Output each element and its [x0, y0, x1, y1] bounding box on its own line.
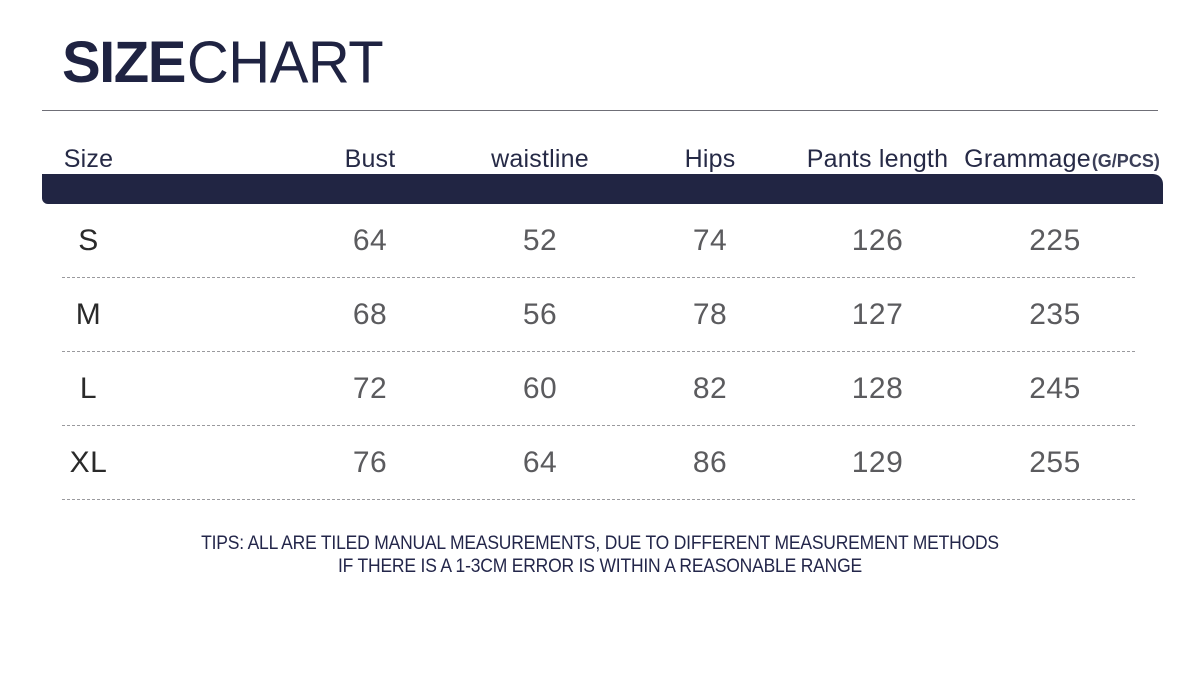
- cell-grammage: 225: [960, 204, 1200, 278]
- cell-bust: 72: [285, 352, 455, 426]
- cell-size: XL: [0, 426, 285, 500]
- size-chart-page: SIZE CHART Size Bust waistline Hips Pant…: [0, 0, 1200, 682]
- cell-hips: 78: [625, 278, 795, 352]
- cell-hips: 82: [625, 352, 795, 426]
- row-divider: [62, 499, 1135, 500]
- column-header-waistline: waistline: [455, 145, 625, 174]
- table-row: S 64 52 74 126 225: [0, 204, 1200, 278]
- header-accent-bar: [42, 174, 1163, 204]
- column-header-grammage: Grammage(G/PCS): [960, 145, 1200, 174]
- title-size-word: SIZE: [62, 34, 185, 92]
- column-header-size: Size: [0, 145, 285, 174]
- table-row: M 68 56 78 127 235: [0, 278, 1200, 352]
- cell-waistline: 56: [455, 278, 625, 352]
- cell-grammage: 255: [960, 426, 1200, 500]
- tips-line-2: IF THERE IS A 1-3CM ERROR IS WITHIN A RE…: [48, 555, 1152, 578]
- table-body: S 64 52 74 126 225 M 68 56 78 127 235 L …: [0, 204, 1200, 500]
- cell-grammage: 235: [960, 278, 1200, 352]
- cell-size: L: [0, 352, 285, 426]
- cell-pants-length: 126: [795, 204, 960, 278]
- cell-hips: 86: [625, 426, 795, 500]
- title-divider: [42, 110, 1158, 111]
- column-header-hips: Hips: [625, 145, 795, 174]
- tips-note: TIPS: ALL ARE TILED MANUAL MEASUREMENTS,…: [48, 532, 1152, 578]
- tips-line-1: TIPS: ALL ARE TILED MANUAL MEASUREMENTS,…: [48, 532, 1152, 555]
- cell-bust: 64: [285, 204, 455, 278]
- size-table: Size Bust waistline Hips Pants length Gr…: [0, 128, 1200, 174]
- cell-waistline: 60: [455, 352, 625, 426]
- cell-pants-length: 128: [795, 352, 960, 426]
- column-header-pants-length: Pants length: [795, 145, 960, 174]
- table-row: L 72 60 82 128 245: [0, 352, 1200, 426]
- cell-grammage: 245: [960, 352, 1200, 426]
- cell-waistline: 64: [455, 426, 625, 500]
- column-header-grammage-unit: (G/PCS): [1092, 151, 1160, 172]
- cell-size: M: [0, 278, 285, 352]
- table-row: XL 76 64 86 129 255: [0, 426, 1200, 500]
- table-header-row: Size Bust waistline Hips Pants length Gr…: [0, 128, 1200, 174]
- cell-waistline: 52: [455, 204, 625, 278]
- cell-bust: 76: [285, 426, 455, 500]
- title-chart-word: CHART: [187, 33, 383, 92]
- page-title: SIZE CHART: [62, 34, 383, 96]
- column-header-bust: Bust: [285, 145, 455, 174]
- cell-pants-length: 129: [795, 426, 960, 500]
- column-header-grammage-text: Grammage: [964, 145, 1091, 174]
- cell-bust: 68: [285, 278, 455, 352]
- cell-pants-length: 127: [795, 278, 960, 352]
- cell-hips: 74: [625, 204, 795, 278]
- cell-size: S: [0, 204, 285, 278]
